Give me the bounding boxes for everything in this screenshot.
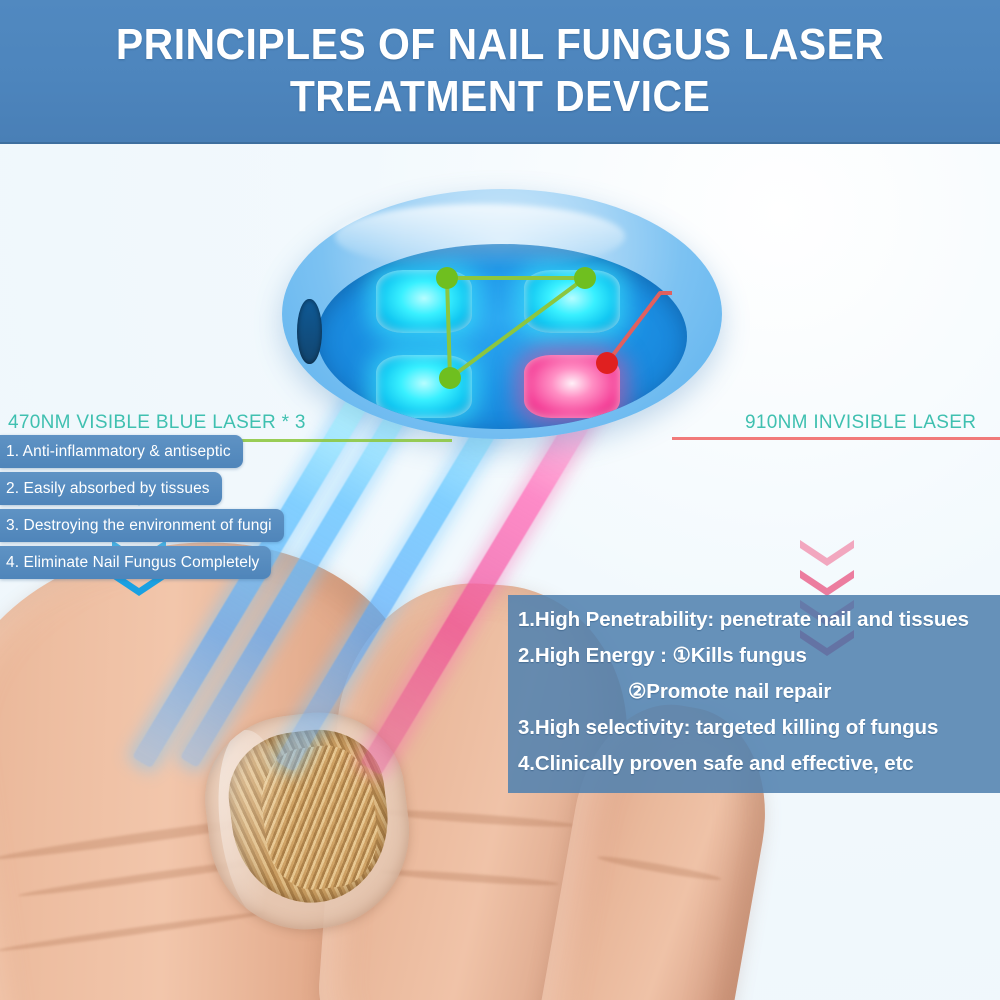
page-title-line-1: PRINCIPLES OF NAIL FUNGUS LASER xyxy=(116,19,884,71)
benefit-pill-label: 2. Easily absorbed by tissues xyxy=(6,480,210,498)
device-rim-highlight xyxy=(335,204,625,269)
page-title-line-2: TREATMENT DEVICE xyxy=(290,71,710,123)
ir-benefit-line-3: ②Promote nail repair xyxy=(518,674,992,710)
benefit-pill-2: 2. Easily absorbed by tissues xyxy=(0,472,222,505)
ir-benefit-line-2: 2.High Energy : ①Kills fungus xyxy=(518,638,992,674)
benefit-pill-4: 4. Eliminate Nail Fungus Completely xyxy=(0,546,271,579)
device-inner-face xyxy=(317,244,687,429)
chevron-down-icon xyxy=(800,570,854,596)
chevron-down-icon xyxy=(800,540,854,566)
blue-laser-benefits-list: 1. Anti-inflammatory & antiseptic2. Easi… xyxy=(0,435,284,583)
benefit-pill-label: 3. Destroying the environment of fungi xyxy=(6,517,272,535)
blue-laser-aperture-2 xyxy=(524,270,620,333)
infrared-laser-callout-label: 910NM INVISIBLE LASER xyxy=(745,412,976,434)
page-header-banner: PRINCIPLES OF NAIL FUNGUS LASER TREATMEN… xyxy=(0,0,1000,144)
blue-laser-callout-label: 470NM VISIBLE BLUE LASER * 3 xyxy=(8,412,306,434)
benefit-pill-1: 1. Anti-inflammatory & antiseptic xyxy=(0,435,243,468)
infrared-laser-aperture xyxy=(524,355,620,418)
illustration-stage: 470NM VISIBLE BLUE LASER * 3 910NM INVIS… xyxy=(0,144,1000,1000)
benefit-pill-3: 3. Destroying the environment of fungi xyxy=(0,509,284,542)
blue-laser-aperture-3 xyxy=(376,355,472,418)
infrared-laser-lead-line xyxy=(672,437,1000,440)
ir-benefit-line-4: 3.High selectivity: targeted killing of … xyxy=(518,710,992,746)
benefit-pill-label: 1. Anti-inflammatory & antiseptic xyxy=(6,443,231,461)
device-vent-slot xyxy=(297,299,321,364)
ir-benefit-line-1: 1.High Penetrability: penetrate nail and… xyxy=(518,602,992,638)
infrared-laser-benefits-panel: 1.High Penetrability: penetrate nail and… xyxy=(508,595,1000,793)
ir-benefit-line-5: 4.Clinically proven safe and effective, … xyxy=(518,746,992,782)
blue-laser-aperture-1 xyxy=(376,270,472,333)
benefit-pill-label: 4. Eliminate Nail Fungus Completely xyxy=(6,554,259,572)
infographic-page: PRINCIPLES OF NAIL FUNGUS LASER TREATMEN… xyxy=(0,0,1000,1000)
laser-device-head xyxy=(282,189,722,439)
